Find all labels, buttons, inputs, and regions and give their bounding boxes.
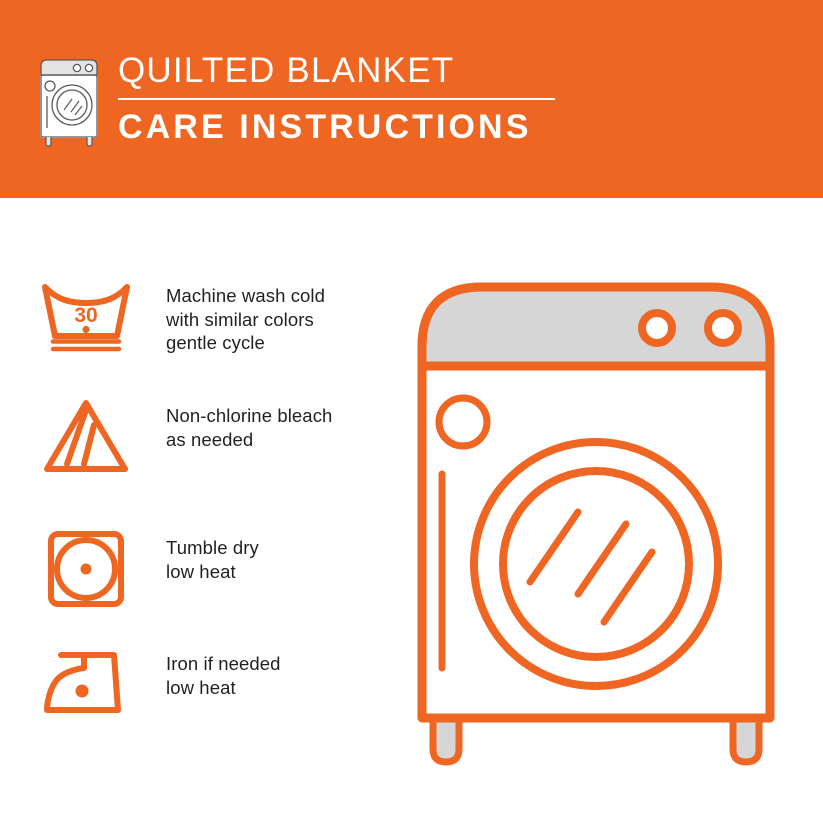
page-title: QUILTED BLANKET [118, 50, 578, 92]
care-item-label: Non-chlorine bleach as needed [166, 398, 332, 451]
care-item-label: Machine wash cold with similar colors ge… [166, 278, 325, 355]
wash-tub-30-gentle-icon: 30 [30, 278, 142, 352]
care-item-label: Tumble dry low heat [166, 530, 259, 583]
detergent-dispenser-circle [439, 398, 487, 446]
front-load-washing-machine-illustration [400, 262, 800, 782]
tumble-dry-low-icon [30, 530, 142, 608]
care-item-bleach: Non-chlorine bleach as needed [30, 398, 390, 474]
page-subtitle: CARE INSTRUCTIONS [118, 107, 578, 147]
knob-right [708, 313, 738, 343]
care-instructions-page: QUILTED BLANKET CARE INSTRUCTIONS 30 Mac… [0, 0, 823, 823]
care-instruction-list: 30 Machine wash cold with similar colors… [0, 198, 400, 823]
header-banner: QUILTED BLANKET CARE INSTRUCTIONS [0, 0, 823, 198]
washing-machine-icon [33, 53, 105, 147]
title-divider [118, 98, 555, 100]
non-chlorine-bleach-triangle-icon [30, 398, 142, 474]
header-text-block: QUILTED BLANKET CARE INSTRUCTIONS [118, 50, 578, 147]
care-item-iron: Iron if needed low heat [30, 646, 390, 716]
iron-low-heat-icon [30, 646, 142, 716]
care-item-machine-wash: 30 Machine wash cold with similar colors… [30, 278, 390, 355]
care-item-label: Iron if needed low heat [166, 646, 281, 699]
svg-text:30: 30 [74, 304, 97, 327]
care-item-tumble-dry: Tumble dry low heat [30, 530, 390, 608]
knob-left [642, 313, 672, 343]
